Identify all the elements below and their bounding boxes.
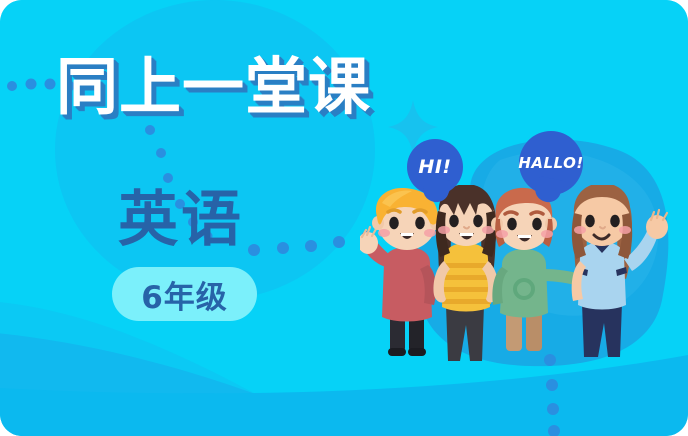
character-boy-blond-waving xyxy=(360,188,442,356)
students-illustration xyxy=(360,185,688,370)
eye-left xyxy=(585,215,595,227)
eye-left xyxy=(507,218,517,230)
speech-bubble-hallo-text: HALLO! xyxy=(518,154,583,172)
character-girl-blue-polo-waving xyxy=(572,185,668,357)
eye-left xyxy=(389,217,399,229)
eye-right xyxy=(532,218,542,230)
eye-right xyxy=(415,217,425,229)
speech-bubble-hi-text: HI! xyxy=(418,156,451,178)
speech-bubble-hallo: HALLO! xyxy=(519,131,583,195)
eye-right xyxy=(610,215,620,227)
character-girl-brown-hair xyxy=(433,185,498,361)
eye-right xyxy=(473,215,483,227)
speech-bubble-hi: HI! xyxy=(407,139,463,195)
title-backdrop-blob xyxy=(55,0,375,300)
course-cover-card: HI! HALLO! 同上一堂课 英语 6年级 xyxy=(0,0,688,436)
eye-left xyxy=(449,215,459,227)
